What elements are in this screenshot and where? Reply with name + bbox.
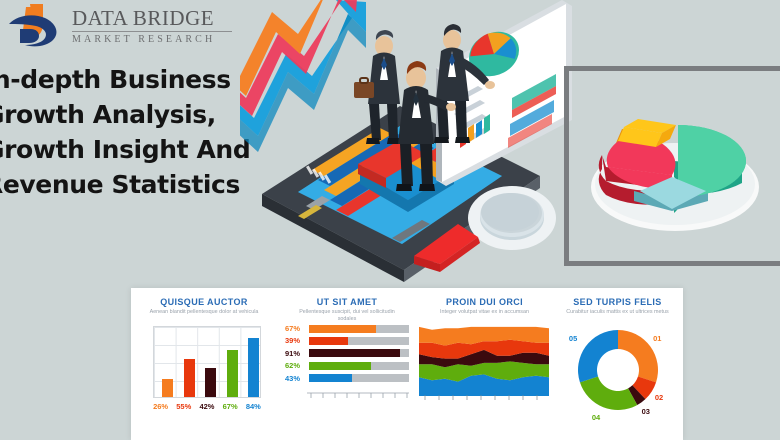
poster-canvas: DATA BRIDGE MARKET RESEARCH In-depth Bus… (0, 0, 780, 440)
hbar-track-4 (309, 374, 409, 382)
column-subtitle: Curabitur iaculis mattis ex ut ultrices … (552, 309, 683, 316)
donut-label-04: 04 (592, 413, 600, 422)
hbar-row-1: 39% (285, 336, 409, 345)
donut-label-03: 03 (642, 407, 650, 416)
infographic-column-sed-turpis-felis: SED TURPIS FELIS Curabitur iaculis matti… (552, 288, 683, 440)
bar-2 (205, 368, 216, 397)
chart-axis (307, 392, 409, 400)
donut-label-05: 05 (569, 334, 577, 343)
donut-chart: 0102030405 (566, 318, 670, 422)
donut-slice-05 (578, 330, 618, 382)
logo-divider (72, 31, 232, 32)
bar-label-3: 67% (223, 402, 238, 411)
infographic-column-quisque-auctor: QUISQUE AUCTOR Aenean blandit pellentesq… (131, 288, 277, 440)
bar-0 (162, 379, 173, 397)
chart-axis (419, 394, 549, 402)
hbar-row-0: 67% (285, 324, 409, 333)
vertical-bar-chart (153, 326, 261, 398)
bar-4 (248, 338, 259, 397)
hbar-label-0: 67% (285, 324, 309, 333)
pie-chart-3d (578, 95, 768, 245)
hbar-fill-3 (309, 362, 371, 370)
column-subtitle: Integer volutpat vitae ex in accumsan (417, 309, 552, 316)
hbar-track-0 (309, 325, 409, 333)
infographic-panel: QUISQUE AUCTOR Aenean blandit pellentesq… (131, 288, 683, 440)
stacked-area-chart (419, 324, 549, 396)
bar-label-1: 55% (176, 402, 191, 411)
donut-label-01: 01 (653, 334, 661, 343)
infographic-column-ut-sit-amet: UT SIT AMET Pellentesque suscipit, dui v… (277, 288, 417, 440)
logo-tagline: MARKET RESEARCH (72, 34, 236, 46)
bar-3 (227, 350, 238, 397)
column-title: SED TURPIS FELIS (552, 296, 683, 308)
logo-title: DATA BRIDGE (72, 6, 236, 30)
brand-logo-text: DATA BRIDGE MARKET RESEARCH (72, 6, 236, 46)
hbar-label-4: 43% (285, 374, 309, 383)
hbar-label-1: 39% (285, 336, 309, 345)
brand-logo: DATA BRIDGE MARKET RESEARCH (6, 2, 236, 54)
hbar-row-2: 91% (285, 349, 409, 358)
hbar-fill-0 (309, 325, 376, 333)
bar-1 (184, 359, 195, 398)
hbar-track-1 (309, 337, 409, 345)
hbar-track-3 (309, 362, 409, 370)
businessman-standing (354, 30, 401, 144)
column-title: UT SIT AMET (277, 296, 417, 308)
hbar-fill-2 (309, 349, 400, 357)
bar-label-2: 42% (199, 402, 214, 411)
bar-label-0: 26% (153, 402, 168, 411)
hbar-fill-1 (309, 337, 348, 345)
hbar-label-3: 62% (285, 361, 309, 370)
bridge-b-logo-icon (6, 2, 68, 52)
isometric-business-analytics-illustration (240, 0, 580, 284)
column-title: QUISQUE AUCTOR (131, 296, 277, 308)
donut-label-02: 02 (655, 393, 663, 402)
donut-slice-01 (618, 330, 658, 382)
hbar-row-3: 62% (285, 361, 409, 370)
column-subtitle: Pellentesque suscipit, dui vel sollicitu… (277, 309, 417, 323)
infographic-column-proin-dui-orci: PROIN DUI ORCI Integer volutpat vitae ex… (417, 288, 552, 440)
hbar-fill-4 (309, 374, 352, 382)
hbar-label-2: 91% (285, 349, 309, 358)
horizontal-bar-chart: 67%39%91%62%43% (285, 324, 409, 390)
hbar-row-4: 43% (285, 374, 409, 383)
bar-label-4: 84% (246, 402, 261, 411)
vertical-bar-chart-labels: 26%55%42%67%84% (149, 402, 265, 411)
donut-slice-04 (580, 376, 637, 410)
column-title: PROIN DUI ORCI (417, 296, 552, 308)
hbar-track-2 (309, 349, 409, 357)
column-subtitle: Aenean blandit pellentesque dolor at veh… (131, 309, 277, 316)
